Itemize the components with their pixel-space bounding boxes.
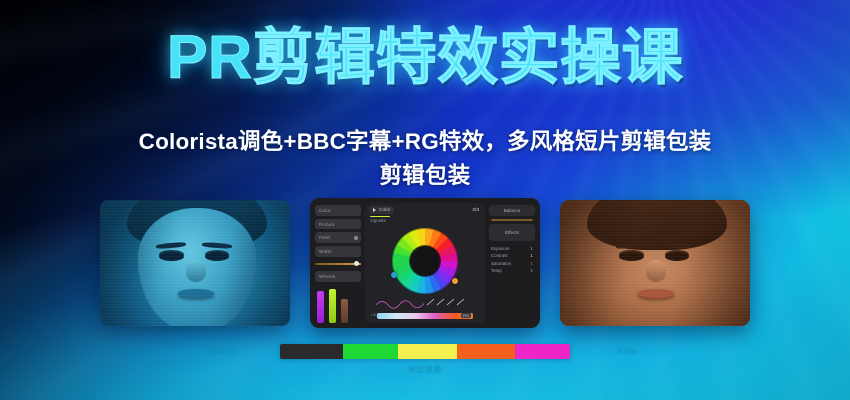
gradient-badge: RG (461, 313, 471, 318)
panel-chip-color[interactable]: Color (315, 205, 361, 216)
panel-left-column: Color Picture Field Width Wheels (315, 203, 361, 323)
slider-track[interactable] (315, 263, 361, 265)
subtitle-line-1: Colorista调色+BBC字幕+RG特效，多风格短片剪辑包装 (0, 124, 850, 156)
strip-label-right: After (596, 347, 660, 356)
row-value: 1 (531, 253, 533, 258)
segment-black (280, 344, 343, 359)
color-grading-panel: Color Picture Field Width Wheels Color 2… (310, 198, 540, 328)
row-label: Contrast (491, 253, 508, 258)
gradient-slider[interactable] (377, 313, 473, 319)
strip-caption: 对比效果 (0, 364, 850, 375)
panel-tab-underline (370, 216, 390, 218)
color-strip (280, 344, 570, 359)
row-label: Exposure (491, 246, 510, 251)
panel-subtle-label: Vignette (370, 218, 485, 223)
shadow-handle[interactable] (391, 272, 397, 278)
lime-bar[interactable] (329, 289, 336, 323)
course-promo-banner: PR剪辑特效实操课 Colorista调色+BBC字幕+RG特效，多风格短片剪辑… (0, 0, 850, 400)
portrait-warm (560, 200, 750, 326)
panel-right-column: Balance Effects Exposure 1 Contrast 1 Sa… (489, 203, 535, 323)
row-exposure[interactable]: Exposure 1 (489, 246, 535, 251)
segment-magenta (515, 344, 570, 359)
panel-chip-field[interactable]: Field (315, 232, 361, 243)
panel-page-indicator: 2/3 (472, 208, 481, 213)
subtitle-line-2: 剪辑包装 (0, 158, 850, 190)
panel-color-tag[interactable]: Color (369, 206, 394, 214)
segment-yellow (398, 344, 457, 359)
panel-value-rows: Exposure 1 Contrast 1 Saturation 1 Temp … (489, 246, 535, 274)
panel-chip-width[interactable]: Width (315, 246, 361, 257)
row-saturation[interactable]: Saturation 1 (489, 261, 535, 266)
panel-chip-picture[interactable]: Picture (315, 219, 361, 230)
color-strip-row: Before After (0, 344, 850, 359)
row-contrast[interactable]: Contrast 1 (489, 253, 535, 258)
panel-topbar: Color 2/3 (365, 203, 485, 214)
play-icon (373, 208, 376, 212)
strip-label-left: Before (190, 347, 254, 356)
brown-bar[interactable] (341, 299, 348, 323)
photo-grain (560, 200, 750, 326)
row-temp[interactable]: Temp 1 (489, 268, 535, 273)
page-title: PR剪辑特效实操课 (0, 26, 850, 89)
panel-amount-slider[interactable] (315, 260, 361, 269)
highlight-handle[interactable] (452, 278, 458, 284)
panel-chip-wheels[interactable]: Wheels (315, 271, 361, 282)
portrait-cool (100, 200, 290, 326)
row-value: 1 (531, 268, 533, 273)
segment-orange (457, 344, 516, 359)
panel-box-balance[interactable]: Balance (489, 205, 535, 216)
panel-divider (491, 219, 533, 221)
row-value: 1 (531, 246, 533, 251)
waveform-curve (375, 295, 475, 309)
segment-green (343, 344, 398, 359)
row-label: Temp (491, 268, 502, 273)
photo-grain (100, 200, 290, 326)
panel-wheel-area: Color 2/3 Vignette • EX RG (365, 203, 485, 323)
hue-color-wheel[interactable] (392, 228, 458, 294)
panel-box-effects[interactable]: Effects (489, 224, 535, 241)
panel-vertical-sliders (315, 288, 361, 323)
photo-after-warm (560, 200, 750, 326)
row-label: Saturation (491, 261, 511, 266)
row-value: 1 (531, 261, 533, 266)
photo-before-cool (100, 200, 290, 326)
wheel-ring[interactable] (392, 228, 458, 294)
headline-container: PR剪辑特效实操课 (0, 26, 850, 89)
panel-tag-label: Color (379, 208, 390, 213)
magenta-bar[interactable] (317, 291, 324, 323)
